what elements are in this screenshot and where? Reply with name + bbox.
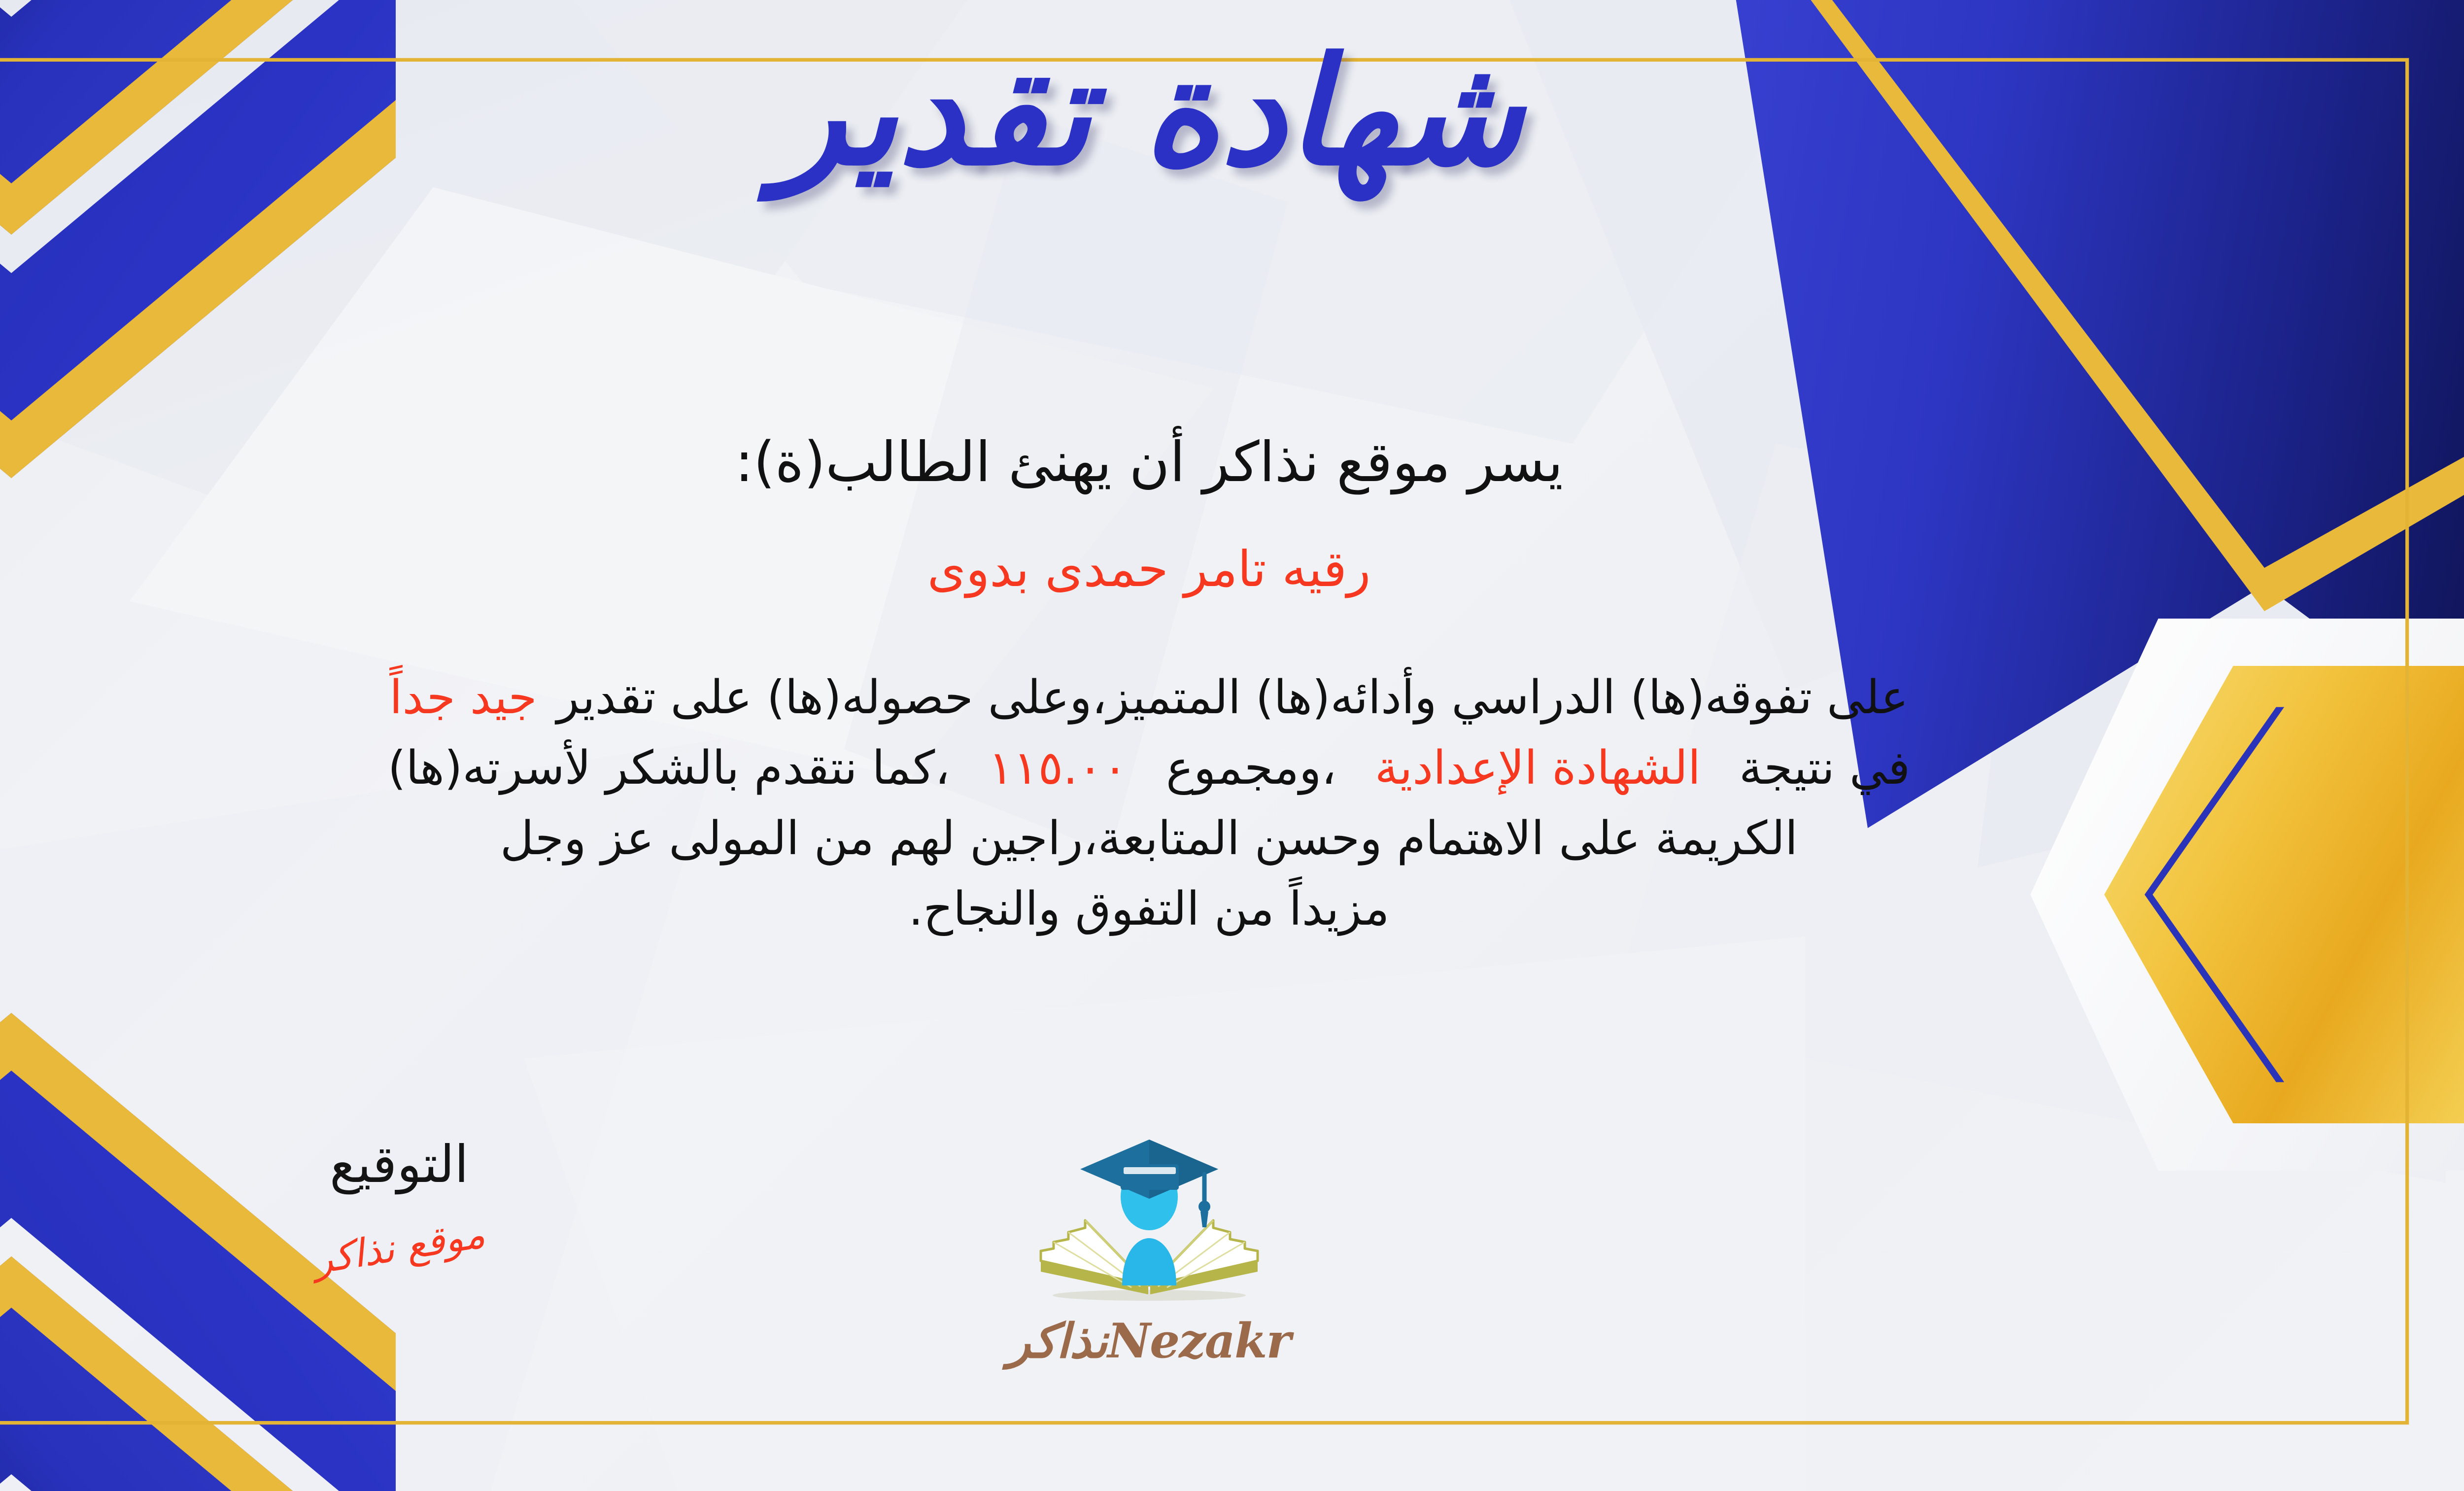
intro-line: يسر موقع نذاكر أن يهنئ الطالب(ة): xyxy=(0,428,2464,497)
certificate-stage-value: الشهادة الإعدادية xyxy=(1375,741,1701,795)
total-score-value: ١١٥.٠٠ xyxy=(989,741,1128,795)
nezakr-logo: Nezakrنذاكر xyxy=(0,1129,2464,1369)
certificate-body: على تفوقه(ها) الدراسي وأدائه(ها) المتميز… xyxy=(0,663,2341,945)
body-line-1-text: على تفوقه(ها) الدراسي وأدائه(ها) المتميز… xyxy=(557,671,1909,725)
total-prefix-text: ،ومجموع xyxy=(1166,741,1336,795)
logo-name-en: Nezakr xyxy=(1107,1313,1290,1369)
certificate-page: شهادة تقدير يسر موقع نذاكر أن يهنئ الطال… xyxy=(0,0,2464,1491)
body-line-4: مزيداً من التفوق والنجاح. xyxy=(0,874,2341,945)
graduation-book-icon xyxy=(1011,1129,1287,1326)
logo-name-ar: نذاكر xyxy=(1008,1314,1107,1369)
body-line-2: في نتيجةالشهادة الإعدادية،ومجموع١١٥.٠٠،ك… xyxy=(0,733,2341,804)
student-name: رقيه تامر حمدى بدوى xyxy=(0,540,2464,599)
logo-wordmark: Nezakrنذاكر xyxy=(1008,1313,1290,1369)
result-prefix-text: في نتيجة xyxy=(1739,741,1910,795)
body-line-1: على تفوقه(ها) الدراسي وأدائه(ها) المتميز… xyxy=(0,663,2341,733)
certificate-title: شهادة تقدير xyxy=(0,38,2464,186)
grade-value: جيد جداً xyxy=(389,671,537,725)
thanks-text: ،كما نتقدم بالشكر لأسرته(ها) xyxy=(388,741,950,795)
body-line-3: الكريمة على الاهتمام وحسن المتابعة،راجين… xyxy=(0,804,2341,874)
certificate-content: شهادة تقدير يسر موقع نذاكر أن يهنئ الطال… xyxy=(0,0,2464,1491)
